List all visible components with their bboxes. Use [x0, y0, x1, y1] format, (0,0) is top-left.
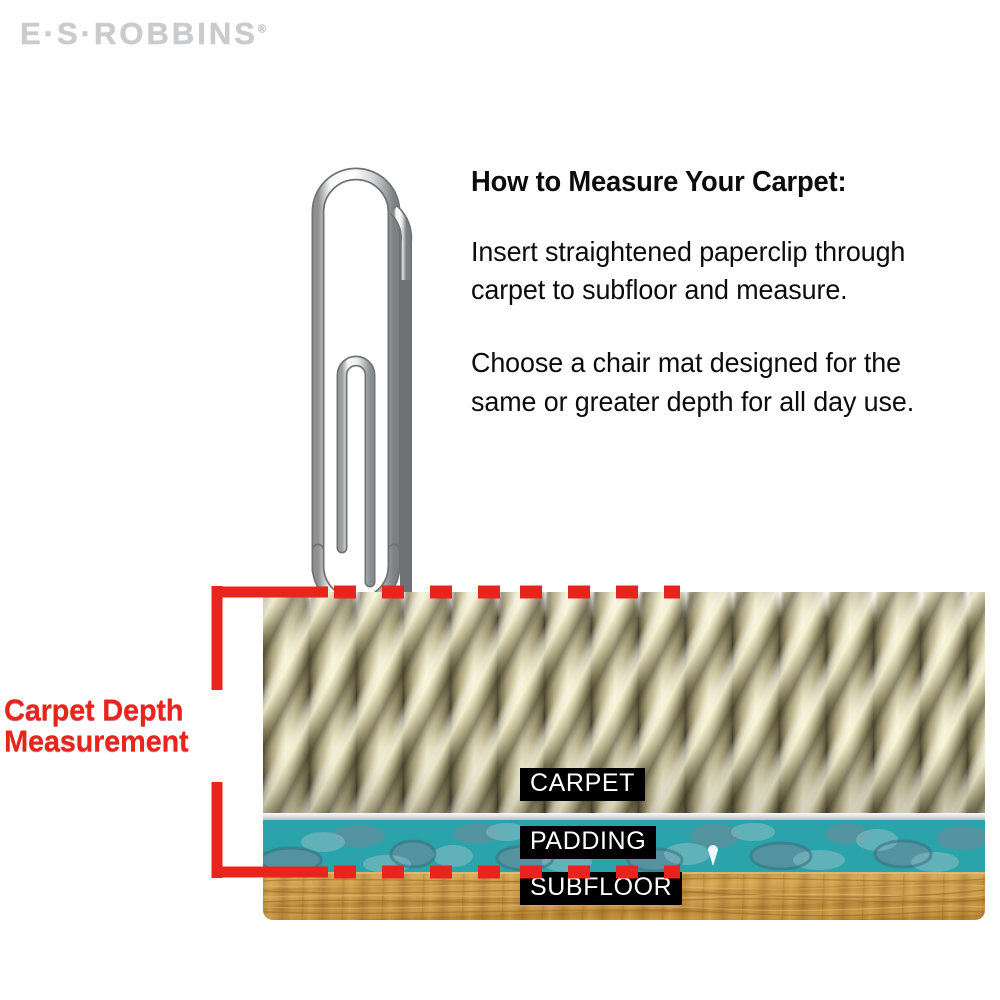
brand-logo: E·S·ROBBINS® — [20, 16, 266, 52]
measurement-label: Carpet Depth Measurement — [4, 696, 256, 757]
poster-canvas: E·S·ROBBINS® How to Measure Your Carpet:… — [0, 0, 1000, 1000]
instruction-paragraph-1: Insert straightened paperclip through ca… — [471, 233, 922, 310]
page-title: How to Measure Your Carpet: — [471, 166, 922, 199]
instructions-block: How to Measure Your Carpet: Insert strai… — [471, 166, 941, 421]
measurement-dash-extension — [520, 560, 1000, 900]
brand-logo-text: E·S·ROBBINS — [20, 16, 258, 51]
measurement-label-line-1: Carpet Depth — [4, 696, 256, 727]
trademark-icon: ® — [258, 24, 266, 36]
instruction-paragraph-2: Choose a chair mat designed for the same… — [471, 344, 922, 421]
measurement-label-line-2: Measurement — [4, 727, 256, 758]
